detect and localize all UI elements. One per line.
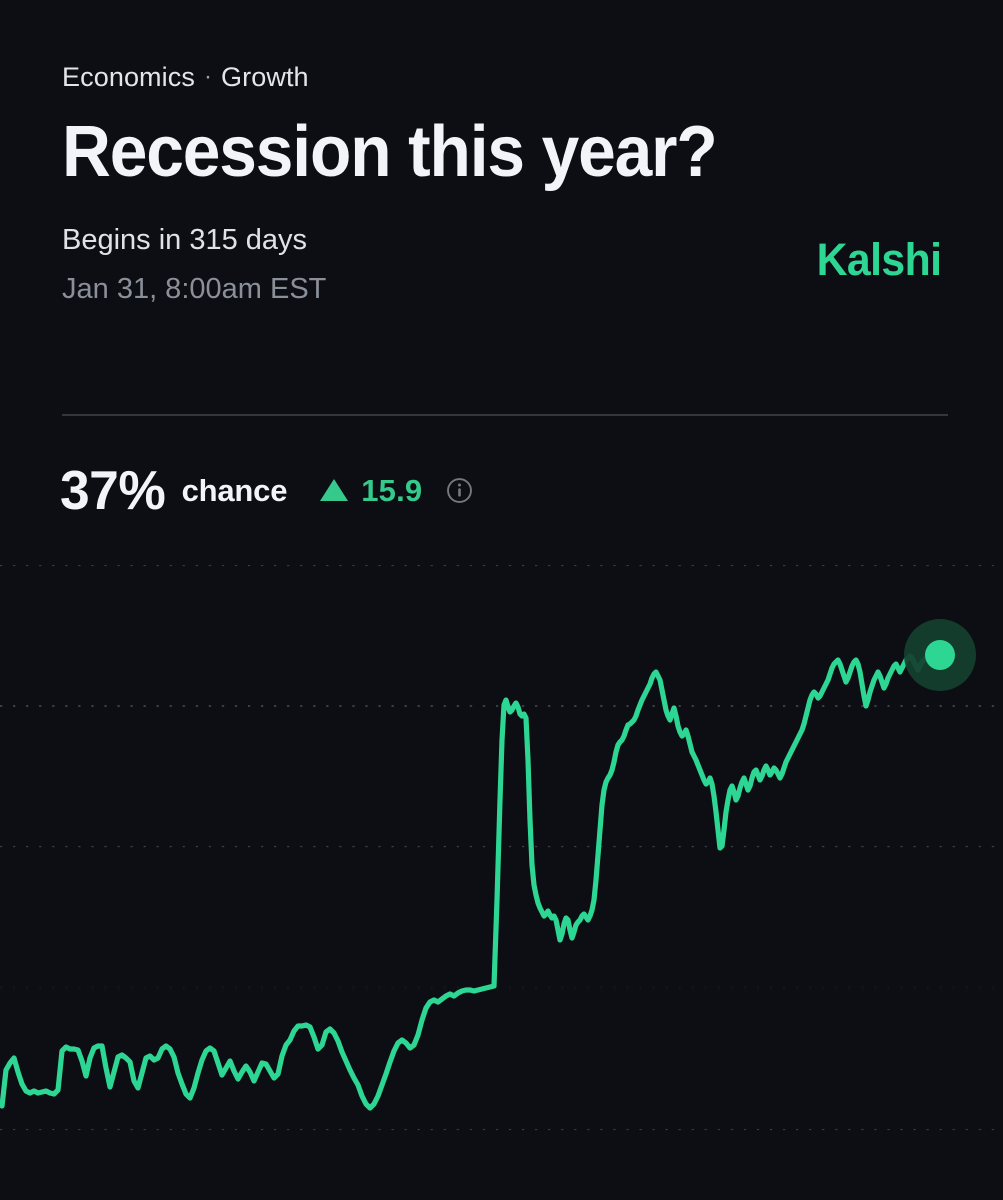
info-circle-icon[interactable] xyxy=(446,477,473,504)
breadcrumb-separator: · xyxy=(195,63,221,90)
chart-line xyxy=(2,655,940,1108)
delta-value: 15.9 xyxy=(361,475,422,506)
price-chart-svg[interactable] xyxy=(0,540,1003,1200)
breadcrumb-subcategory[interactable]: Growth xyxy=(221,62,309,92)
price-chart[interactable] xyxy=(0,540,1003,1200)
triangle-up-icon xyxy=(320,479,348,501)
chart-gridlines xyxy=(0,564,1003,1130)
breadcrumb[interactable]: Economics·Growth xyxy=(62,60,948,96)
meta-row: Begins in 315 days Jan 31, 8:00am EST Ka… xyxy=(62,220,948,309)
breadcrumb-category[interactable]: Economics xyxy=(62,62,195,92)
probability-label: chance xyxy=(182,475,288,506)
header-divider xyxy=(62,414,948,416)
probability-row: 37% chance 15.9 xyxy=(60,460,473,520)
end-marker-dot xyxy=(925,640,955,670)
market-card: Economics·Growth Recession this year? Be… xyxy=(0,0,1003,1200)
page-title: Recession this year? xyxy=(62,114,895,190)
meta-left: Begins in 315 days Jan 31, 8:00am EST xyxy=(62,220,326,309)
begins-label: Begins in 315 days xyxy=(62,220,326,260)
close-date-label: Jan 31, 8:00am EST xyxy=(62,269,326,309)
delta-group: 15.9 xyxy=(320,475,422,506)
probability-value: 37% xyxy=(60,463,165,518)
kalshi-logo: Kalshi xyxy=(816,234,941,286)
card-header: Economics·Growth Recession this year? Be… xyxy=(62,60,948,309)
